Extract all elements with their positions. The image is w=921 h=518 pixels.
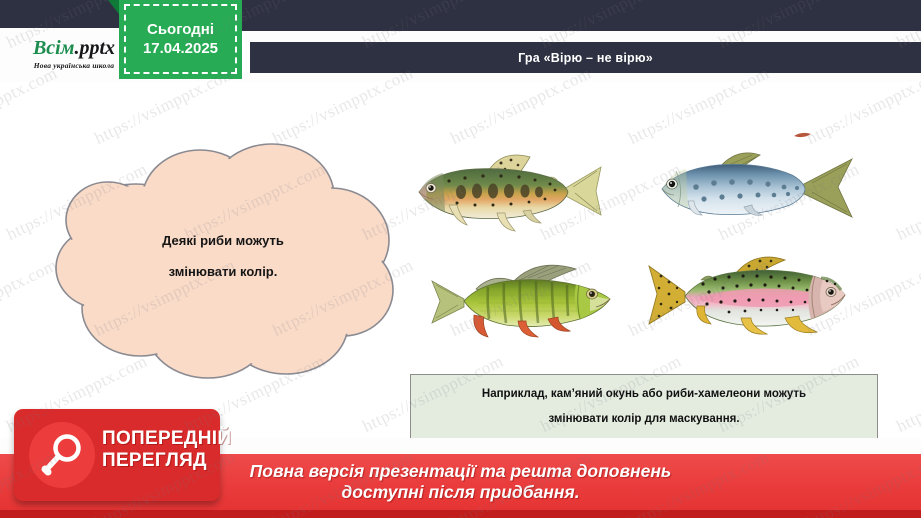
thought-cloud-line-2: змінювати колір. <box>169 265 278 278</box>
slide-canvas: Гра «Вірю – не вірю» Всім.pptx Нова укра… <box>0 0 921 518</box>
bottom-red-strip <box>0 510 921 518</box>
slide-title-bar: Гра «Вірю – не вірю» <box>250 42 921 73</box>
thought-cloud: Деякі риби можуть змінювати колір. <box>48 128 398 384</box>
brand-logo-text: Всім.pptx <box>33 38 115 58</box>
page-title: Гра «Вірю – не вірю» <box>518 51 653 65</box>
thought-cloud-text: Деякі риби можуть змінювати колір. <box>48 128 398 384</box>
watermark-text: https://vsimpptx.com <box>893 351 921 437</box>
watermark-text: https://vsimpptx.com <box>893 159 921 245</box>
date-badge: Сьогодні 17.04.2025 <box>119 0 242 79</box>
info-note-line-1: Наприклад, кам’яний окунь або риби-хамел… <box>482 389 806 401</box>
brand-logo-subtitle: Нова українська школа <box>34 61 115 70</box>
info-note-line-2: змінювати колір для маскування. <box>548 414 739 426</box>
preview-button[interactable]: ПОПЕРЕДНІЙ ПЕРЕГЛЯД <box>14 409 220 501</box>
fish-image-rainbow-trout <box>645 248 860 348</box>
thought-cloud-line-1: Деякі риби можуть <box>162 234 284 247</box>
fish-image-yellow-perch <box>430 255 630 347</box>
info-note-box: Наприклад, кам’яний окунь або риби-хамел… <box>410 374 878 440</box>
preview-button-line-1: ПОПЕРЕДНІЙ <box>102 428 214 450</box>
magnifier-icon <box>40 431 86 477</box>
brand-logo-suffix: .pptx <box>74 37 115 59</box>
date-badge-value: 17.04.2025 <box>143 40 218 59</box>
purchase-banner-line-1: Повна версія презентації та решта доповн… <box>250 461 672 482</box>
fish-image-speckled-trout-parr <box>405 145 605 237</box>
purchase-banner-line-2: доступні після придбання. <box>250 482 672 503</box>
fish-fin-fleck <box>793 129 813 141</box>
date-badge-label: Сьогодні <box>147 21 214 40</box>
brand-logo-prefix: Всім <box>33 37 74 59</box>
preview-button-label: ПОПЕРЕДНІЙ ПЕРЕГЛЯД <box>102 428 214 472</box>
fish-image-spotted-sardine <box>652 145 857 231</box>
purchase-banner-text: Повна версія презентації та решта доповн… <box>250 461 672 502</box>
preview-button-line-2: ПЕРЕГЛЯД <box>102 450 214 472</box>
